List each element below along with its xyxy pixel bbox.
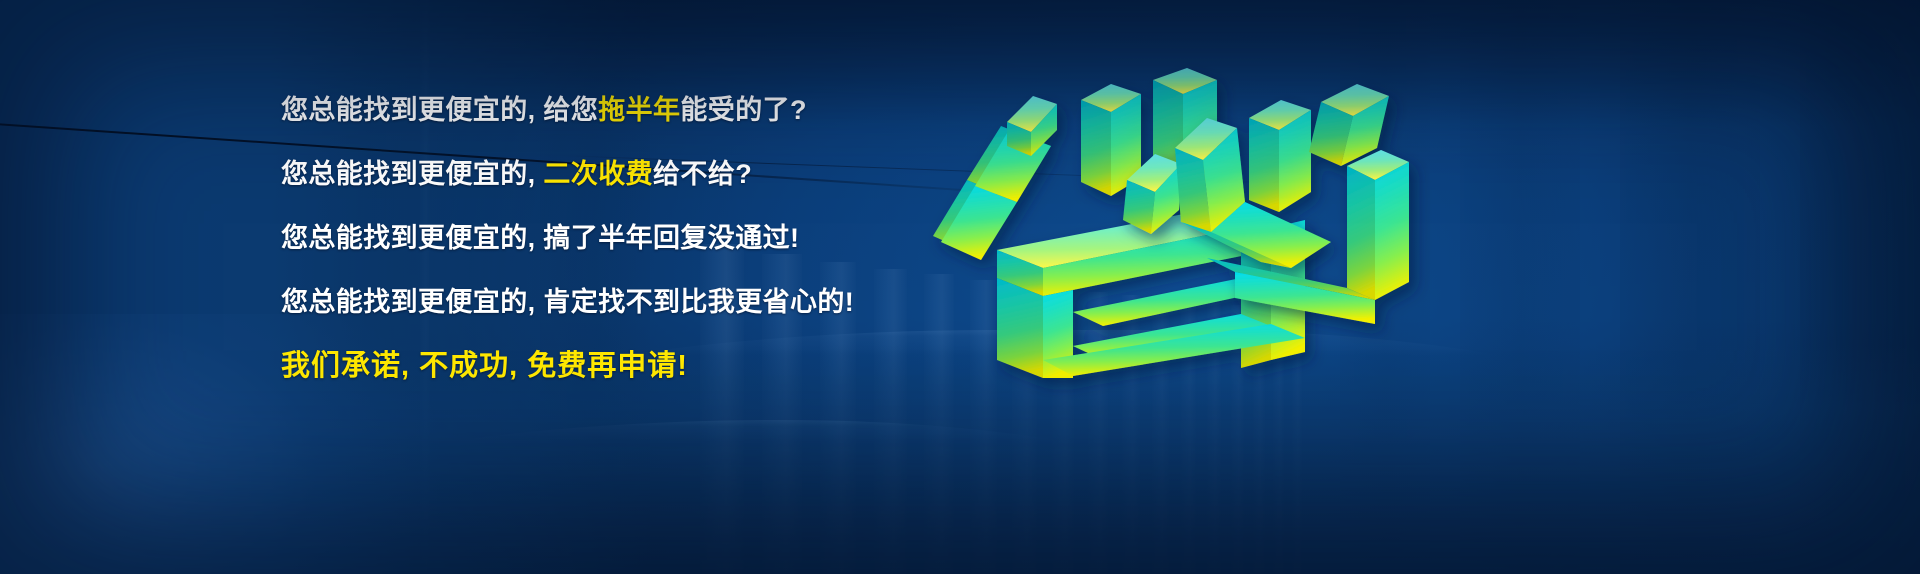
- copy-line-1-part-1: 您总能找到更便宜的, 给您: [281, 95, 598, 125]
- copy-line-2-part-3: 给不给?: [653, 159, 752, 189]
- xin-stroke-right-descender: [1347, 150, 1409, 300]
- copy-line-2: 您总能找到更便宜的, 二次收费给不给?: [281, 142, 941, 206]
- copy-line-4-text: 您总能找到更便宜的, 肯定找不到比我更省心的!: [281, 287, 854, 317]
- copy-line-1-highlight: 拖半年: [598, 95, 680, 125]
- copy-line-3: 您总能找到更便宜的, 搞了半年回复没通过!: [281, 206, 941, 270]
- hero-3d-svg: [905, 60, 1385, 380]
- hero-3d-text-shengxin: [905, 60, 1385, 380]
- copy-line-2-part-1: 您总能找到更便宜的,: [281, 159, 543, 189]
- xin-stroke-dot-middle: [1249, 100, 1311, 212]
- copy-line-2-highlight: 二次收费: [543, 159, 653, 189]
- copy-line-3-text: 您总能找到更便宜的, 搞了半年回复没通过!: [281, 223, 799, 253]
- copy-line-5-text: 我们承诺, 不成功, 免费再申请!: [281, 350, 688, 382]
- copy-line-1: 您总能找到更便宜的, 给您拖半年能受的了?: [281, 78, 941, 142]
- copy-line-1-part-3: 能受的了?: [680, 95, 807, 125]
- copy-line-5-promise: 我们承诺, 不成功, 免费再申请!: [281, 334, 941, 398]
- promo-banner: 您总能找到更便宜的, 给您拖半年能受的了? 您总能找到更便宜的, 二次收费给不给…: [0, 0, 1920, 574]
- marketing-copy-block: 您总能找到更便宜的, 给您拖半年能受的了? 您总能找到更便宜的, 二次收费给不给…: [281, 78, 941, 398]
- copy-line-4: 您总能找到更便宜的, 肯定找不到比我更省心的!: [281, 270, 941, 334]
